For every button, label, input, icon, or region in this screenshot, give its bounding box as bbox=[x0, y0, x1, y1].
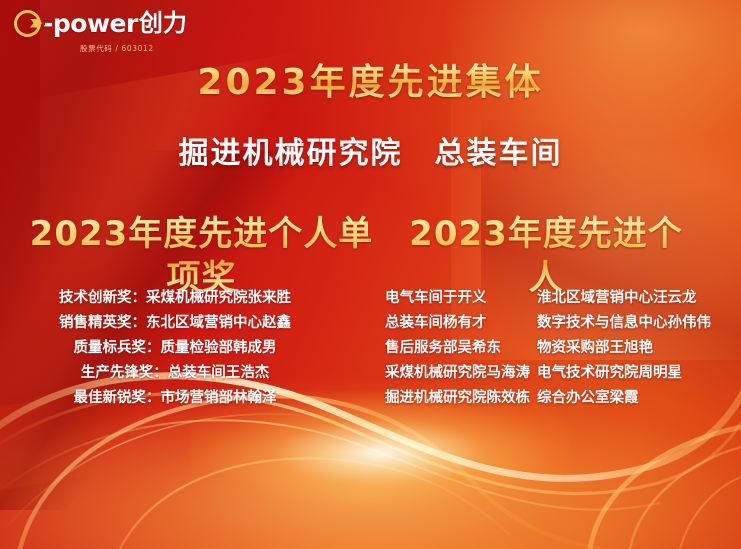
person-name-right: 综合办公室梁霞 bbox=[537, 386, 715, 411]
person-name-right: 物资采购部王旭艳 bbox=[537, 336, 715, 361]
c-power-logo-icon bbox=[14, 10, 41, 37]
list-item: 质量标兵奖：质量检验部韩成男 bbox=[40, 336, 310, 361]
brand-stock-code: 股票代码 / 603012 bbox=[80, 43, 229, 54]
list-item: 掘进机械研究院陈效栋 综合办公室梁霞 bbox=[385, 386, 715, 411]
list-item: 售后服务部吴希东 物资采购部王旭艳 bbox=[385, 336, 715, 361]
advanced-individual-list: 电气车间于开义 淮北区域营销中心汪云龙 总装车间杨有才 数字技术与信息中心孙伟伟… bbox=[385, 286, 715, 411]
list-item: 采煤机械研究院马海涛 电气技术研究院周明星 bbox=[385, 361, 715, 386]
person-name-right: 电气技术研究院周明星 bbox=[537, 361, 715, 386]
list-item: 生产先锋奖：总装车间王浩杰 bbox=[40, 361, 310, 386]
brand-word: -power bbox=[43, 10, 138, 37]
page-subtitle: 掘进机械研究院 总装车间 bbox=[0, 134, 741, 174]
brand-word-cn: 创力 bbox=[139, 10, 187, 37]
person-name-right: 数字技术与信息中心孙伟伟 bbox=[537, 311, 715, 336]
person-name-left: 掘进机械研究院陈效栋 bbox=[385, 386, 537, 411]
list-item: 总装车间杨有才 数字技术与信息中心孙伟伟 bbox=[385, 311, 715, 336]
person-name-left: 电气车间于开义 bbox=[385, 286, 537, 311]
brand-logo: -power 创力 股票代码 / 603012 bbox=[14, 6, 229, 58]
person-name-left: 采煤机械研究院马海涛 bbox=[385, 361, 537, 386]
person-name-left: 总装车间杨有才 bbox=[385, 311, 537, 336]
swirl-core-glow bbox=[190, 393, 570, 513]
list-item: 技术创新奖：采煤机械研究院张来胜 bbox=[40, 286, 310, 311]
brand-logo-row: -power 创力 bbox=[14, 6, 229, 40]
list-item: 电气车间于开义 淮北区域营销中心汪云龙 bbox=[385, 286, 715, 311]
single-award-list: 技术创新奖：采煤机械研究院张来胜 销售精英奖：东北区域营销中心赵鑫 质量标兵奖：… bbox=[40, 286, 310, 411]
list-item: 最佳新锐奖：市场营销部林翰泽 bbox=[40, 386, 310, 411]
award-poster: -power 创力 股票代码 / 603012 2023年度先进集体 掘进机械研… bbox=[0, 0, 741, 549]
person-name-left: 售后服务部吴希东 bbox=[385, 336, 537, 361]
page-title: 2023年度先进集体 bbox=[0, 62, 741, 104]
list-item: 销售精英奖：东北区域营销中心赵鑫 bbox=[40, 311, 310, 336]
person-name-right: 淮北区域营销中心汪云龙 bbox=[537, 286, 715, 311]
